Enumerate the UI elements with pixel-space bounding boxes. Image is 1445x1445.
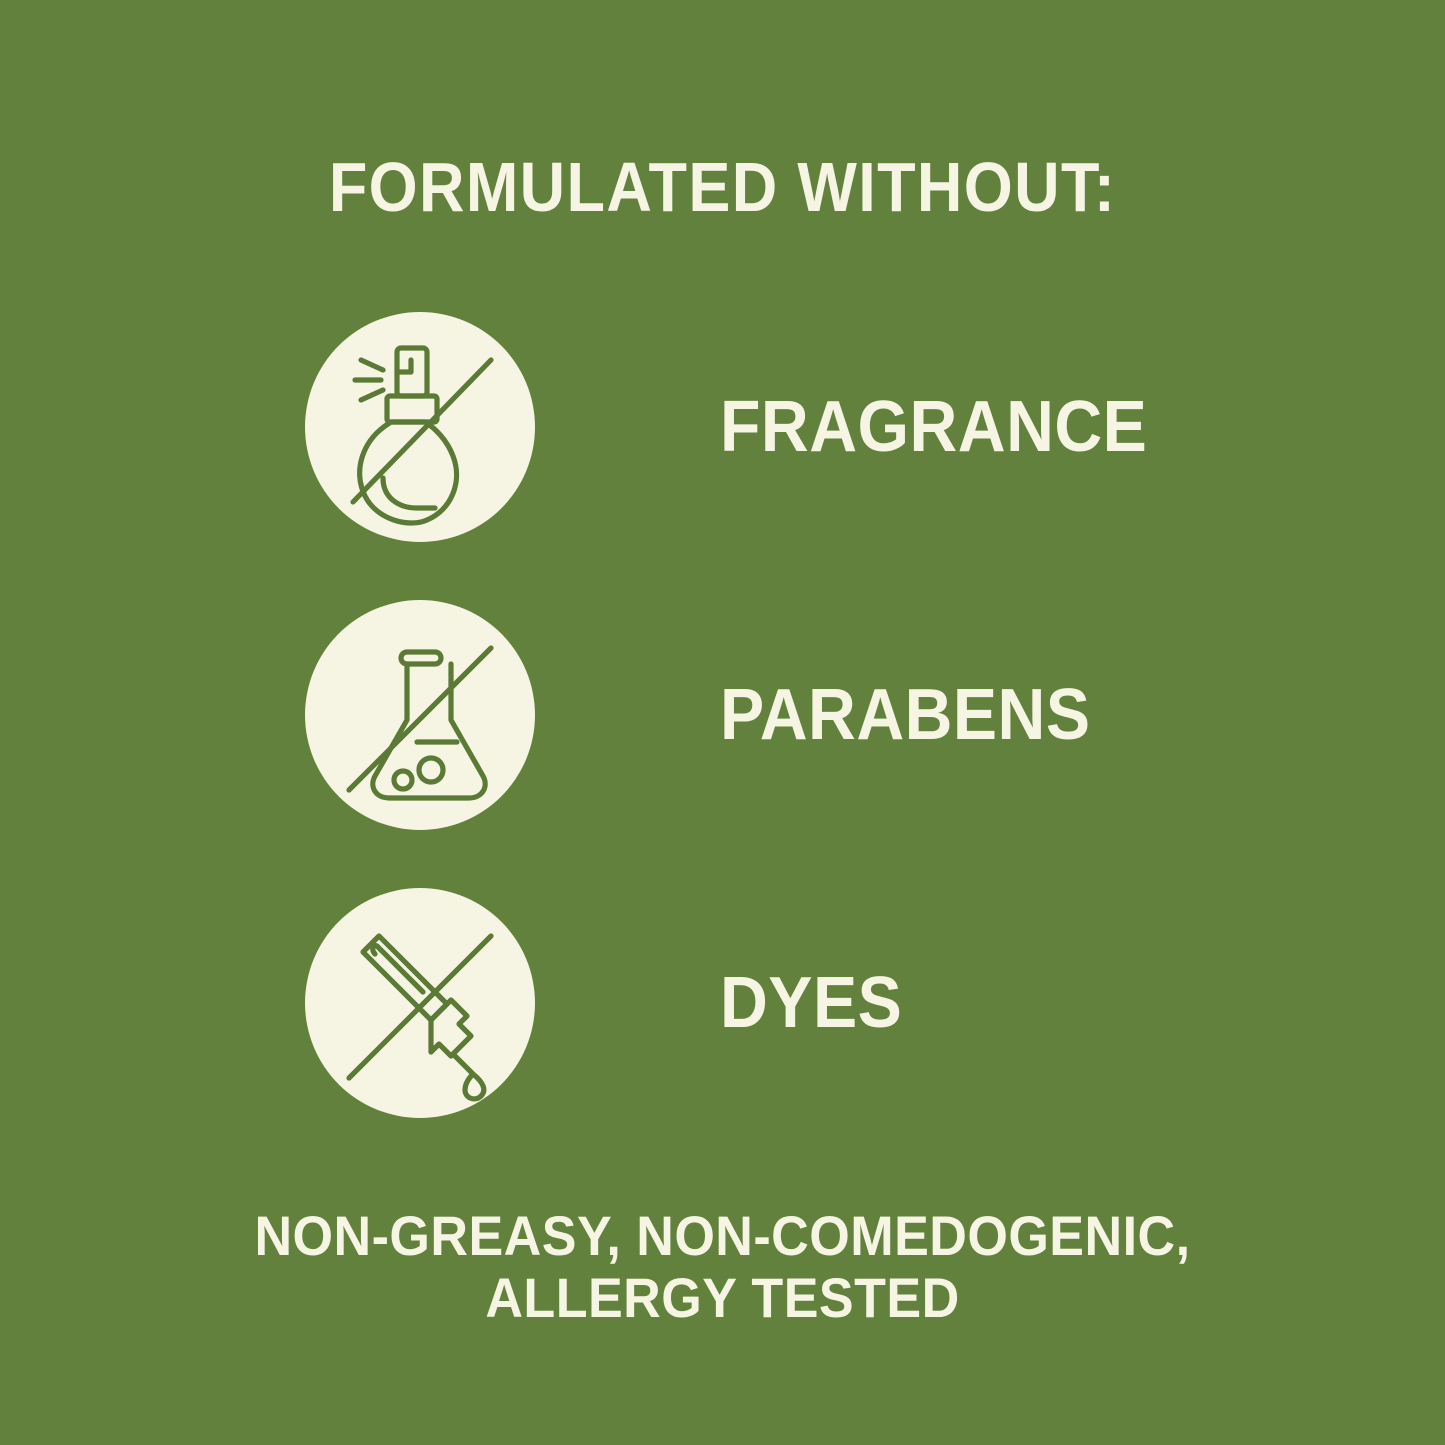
benefit-row-parabens: PARABENS (305, 600, 1365, 830)
page-title: FORMULATED WITHOUT: (72, 148, 1373, 226)
benefit-row-fragrance: FRAGRANCE (305, 312, 1365, 542)
benefit-label-dyes: DYES (720, 965, 902, 1041)
footer-line-2: ALLERGY TESTED (51, 1267, 1395, 1329)
no-fragrance-spray-bottle-icon (305, 312, 535, 542)
benefit-label-fragrance: FRAGRANCE (720, 389, 1147, 465)
footer-line-1: NON-GREASY, NON-COMEDOGENIC, (51, 1205, 1395, 1267)
no-parabens-flask-icon (305, 600, 535, 830)
no-dyes-dropper-icon (305, 888, 535, 1118)
footer-claims: NON-GREASY, NON-COMEDOGENIC, ALLERGY TES… (0, 1205, 1445, 1329)
benefit-row-dyes: DYES (305, 888, 1365, 1118)
benefit-label-parabens: PARABENS (720, 677, 1091, 753)
formulated-without-infographic: FORMULATED WITHOUT: (0, 0, 1445, 1445)
